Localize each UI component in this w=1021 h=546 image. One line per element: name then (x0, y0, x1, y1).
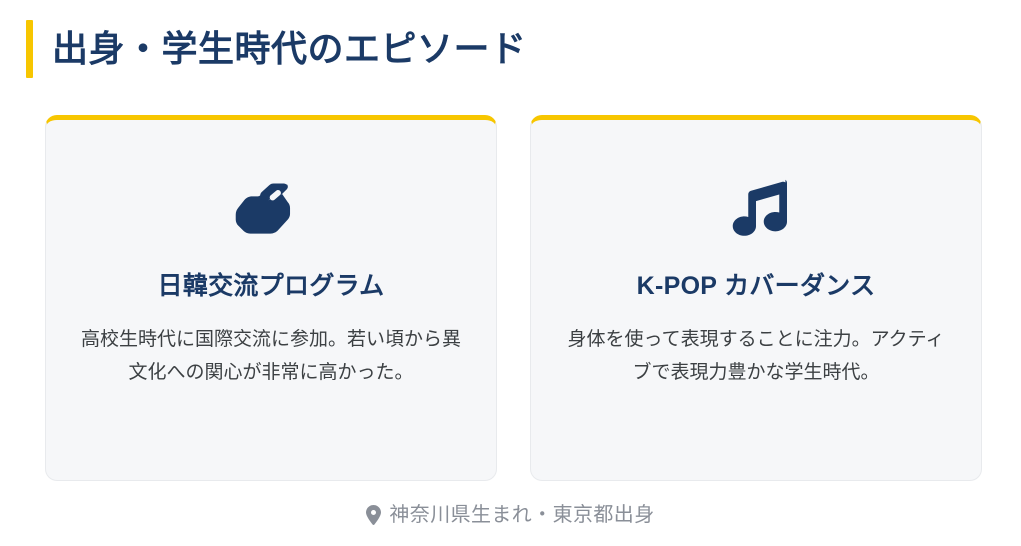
music-note-icon (713, 176, 799, 244)
origin-footnote: 神奈川県生まれ・東京都出身 (0, 505, 1021, 525)
episode-section: 出身・学生時代のエピソード 日韓交流プログラム 高校生時代に国際交流に参加。若 (0, 0, 1021, 546)
episode-card-kpop-cover-dance[interactable]: K-POP カバーダンス 身体を使って表現することに注力。アクティブで表現力豊か… (530, 115, 982, 481)
origin-footnote-text: 神奈川県生まれ・東京都出身 (389, 505, 654, 525)
handshake-hands-icon (228, 176, 314, 244)
card-body: 高校生時代に国際交流に参加。若い頃から異文化への関心が非常に高かった。 (81, 323, 461, 391)
cards-row: 日韓交流プログラム 高校生時代に国際交流に参加。若い頃から異文化への関心が非常に… (45, 115, 982, 481)
card-title: K-POP カバーダンス (637, 270, 876, 303)
episode-card-japan-korea-exchange[interactable]: 日韓交流プログラム 高校生時代に国際交流に参加。若い頃から異文化への関心が非常に… (45, 115, 497, 481)
heading-accent-bar (26, 20, 33, 78)
card-title: 日韓交流プログラム (158, 270, 385, 303)
page-title: 出身・学生時代のエピソード (52, 20, 527, 78)
map-marker-icon (366, 505, 381, 525)
section-heading: 出身・学生時代のエピソード (26, 20, 527, 78)
card-body: 身体を使って表現することに注力。アクティブで表現力豊かな学生時代。 (566, 323, 946, 391)
